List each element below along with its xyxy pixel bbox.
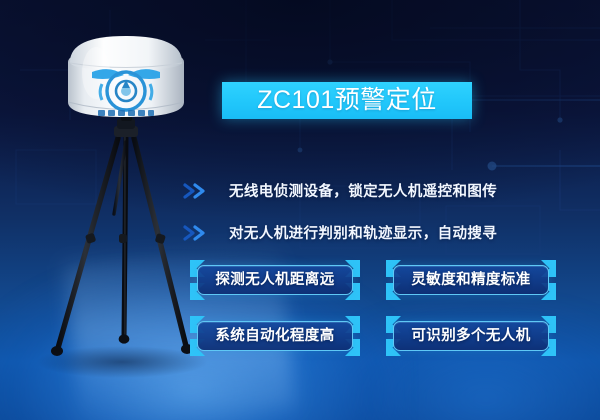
page-title: ZC101预警定位: [257, 88, 437, 113]
feature-grid: 探测无人机距离远 灵敏度和精度标准: [190, 260, 580, 356]
bullet-label: 无线电侦测设备，锁定无人机遥控和图传: [229, 180, 497, 201]
feature-box: 可识别多个无人机: [386, 316, 556, 356]
bullet-list: 无线电侦测设备，锁定无人机遥控和图传 对无人机进行判别和轨迹显示，自动搜寻: [183, 175, 583, 259]
feature-box: 探测无人机距离远: [190, 260, 360, 300]
feature-box: 系统自动化程度高: [190, 316, 360, 356]
feature-box-body: 灵敏度和精度标准: [393, 265, 549, 295]
bullet-label: 对无人机进行判别和轨迹显示，自动搜寻: [229, 222, 497, 243]
feature-box-body: 系统自动化程度高: [197, 321, 353, 351]
feature-label: 可识别多个无人机: [411, 329, 530, 344]
double-chevron-right-icon: [183, 183, 211, 199]
feature-box: 灵敏度和精度标准: [386, 260, 556, 300]
double-chevron-right-icon: [183, 225, 211, 241]
feature-box-body: 可识别多个无人机: [393, 321, 549, 351]
feature-box-body: 探测无人机距离远: [197, 265, 353, 295]
bullet-item: 无线电侦测设备，锁定无人机遥控和图传: [183, 175, 583, 206]
feature-label: 探测无人机距离远: [215, 273, 334, 288]
promo-poster: ZC101预警定位 无线电侦测设备，锁定无人机遥控和图传 对无人机进行判别和轨迹…: [0, 0, 600, 420]
feature-label: 灵敏度和精度标准: [411, 273, 530, 288]
title-banner: ZC101预警定位: [222, 82, 472, 119]
feature-label: 系统自动化程度高: [215, 329, 334, 344]
bullet-item: 对无人机进行判别和轨迹显示，自动搜寻: [183, 217, 583, 248]
